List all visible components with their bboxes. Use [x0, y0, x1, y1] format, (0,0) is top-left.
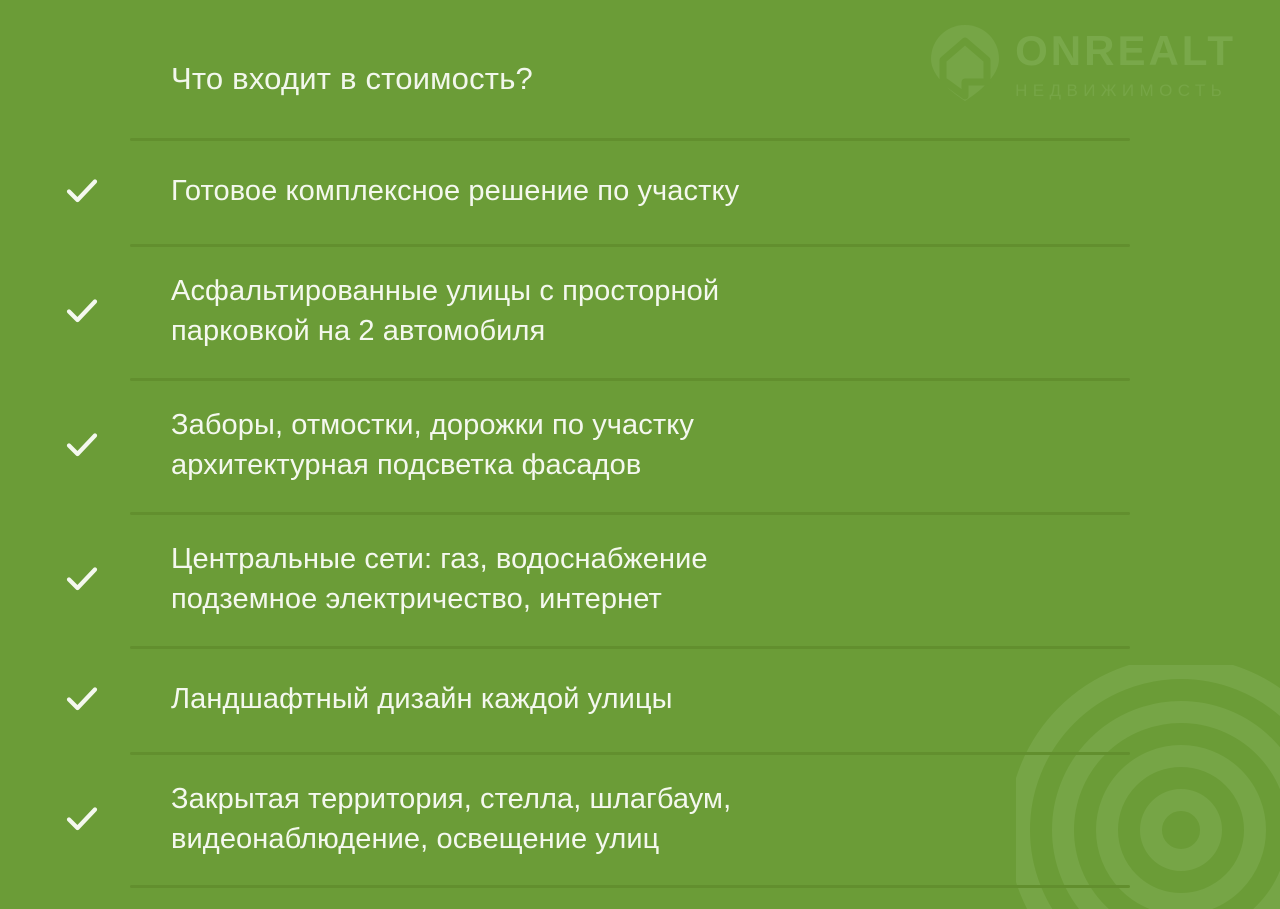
list-item: Центральные сети: газ, водоснабжение под…: [0, 512, 1280, 646]
list-item-label: Асфальтированные улицы с просторной парк…: [171, 271, 719, 351]
brand-wordmark: ONREALT НЕДВИЖИМОСТЬ: [1015, 24, 1236, 99]
list-item-label: Заборы, отмостки, дорожки по участку арх…: [171, 405, 694, 485]
list-item: Готовое комплексное решение по участку: [0, 138, 1280, 244]
features-list: Готовое комплексное решение по участку А…: [0, 138, 1280, 886]
check-icon: [64, 561, 100, 597]
page-title: Что входит в стоимость?: [171, 61, 533, 97]
brand-name: ONREALT: [1015, 30, 1236, 72]
check-icon: [64, 801, 100, 837]
check-icon: [64, 293, 100, 329]
list-item-label: Закрытая территория, стелла, шлагбаум, в…: [171, 779, 731, 859]
list-item-label: Готовое комплексное решение по участку: [171, 171, 739, 211]
map-pin-house-icon: [929, 24, 1001, 102]
check-icon: [64, 681, 100, 717]
list-item: Закрытая территория, стелла, шлагбаум, в…: [0, 752, 1280, 886]
check-icon: [64, 427, 100, 463]
check-icon: [64, 173, 100, 209]
brand-tagline: НЕДВИЖИМОСТЬ: [1015, 82, 1236, 99]
list-bottom-divider: [130, 885, 1130, 888]
list-item-label: Центральные сети: газ, водоснабжение под…: [171, 539, 708, 619]
list-item: Асфальтированные улицы с просторной парк…: [0, 244, 1280, 378]
list-item: Заборы, отмостки, дорожки по участку арх…: [0, 378, 1280, 512]
brand-watermark: ONREALT НЕДВИЖИМОСТЬ: [929, 24, 1236, 102]
promo-card: ONREALT НЕДВИЖИМОСТЬ Что входит в стоимо…: [0, 0, 1280, 909]
list-item-label: Ландшафтный дизайн каждой улицы: [171, 679, 673, 719]
list-item: Ландшафтный дизайн каждой улицы: [0, 646, 1280, 752]
